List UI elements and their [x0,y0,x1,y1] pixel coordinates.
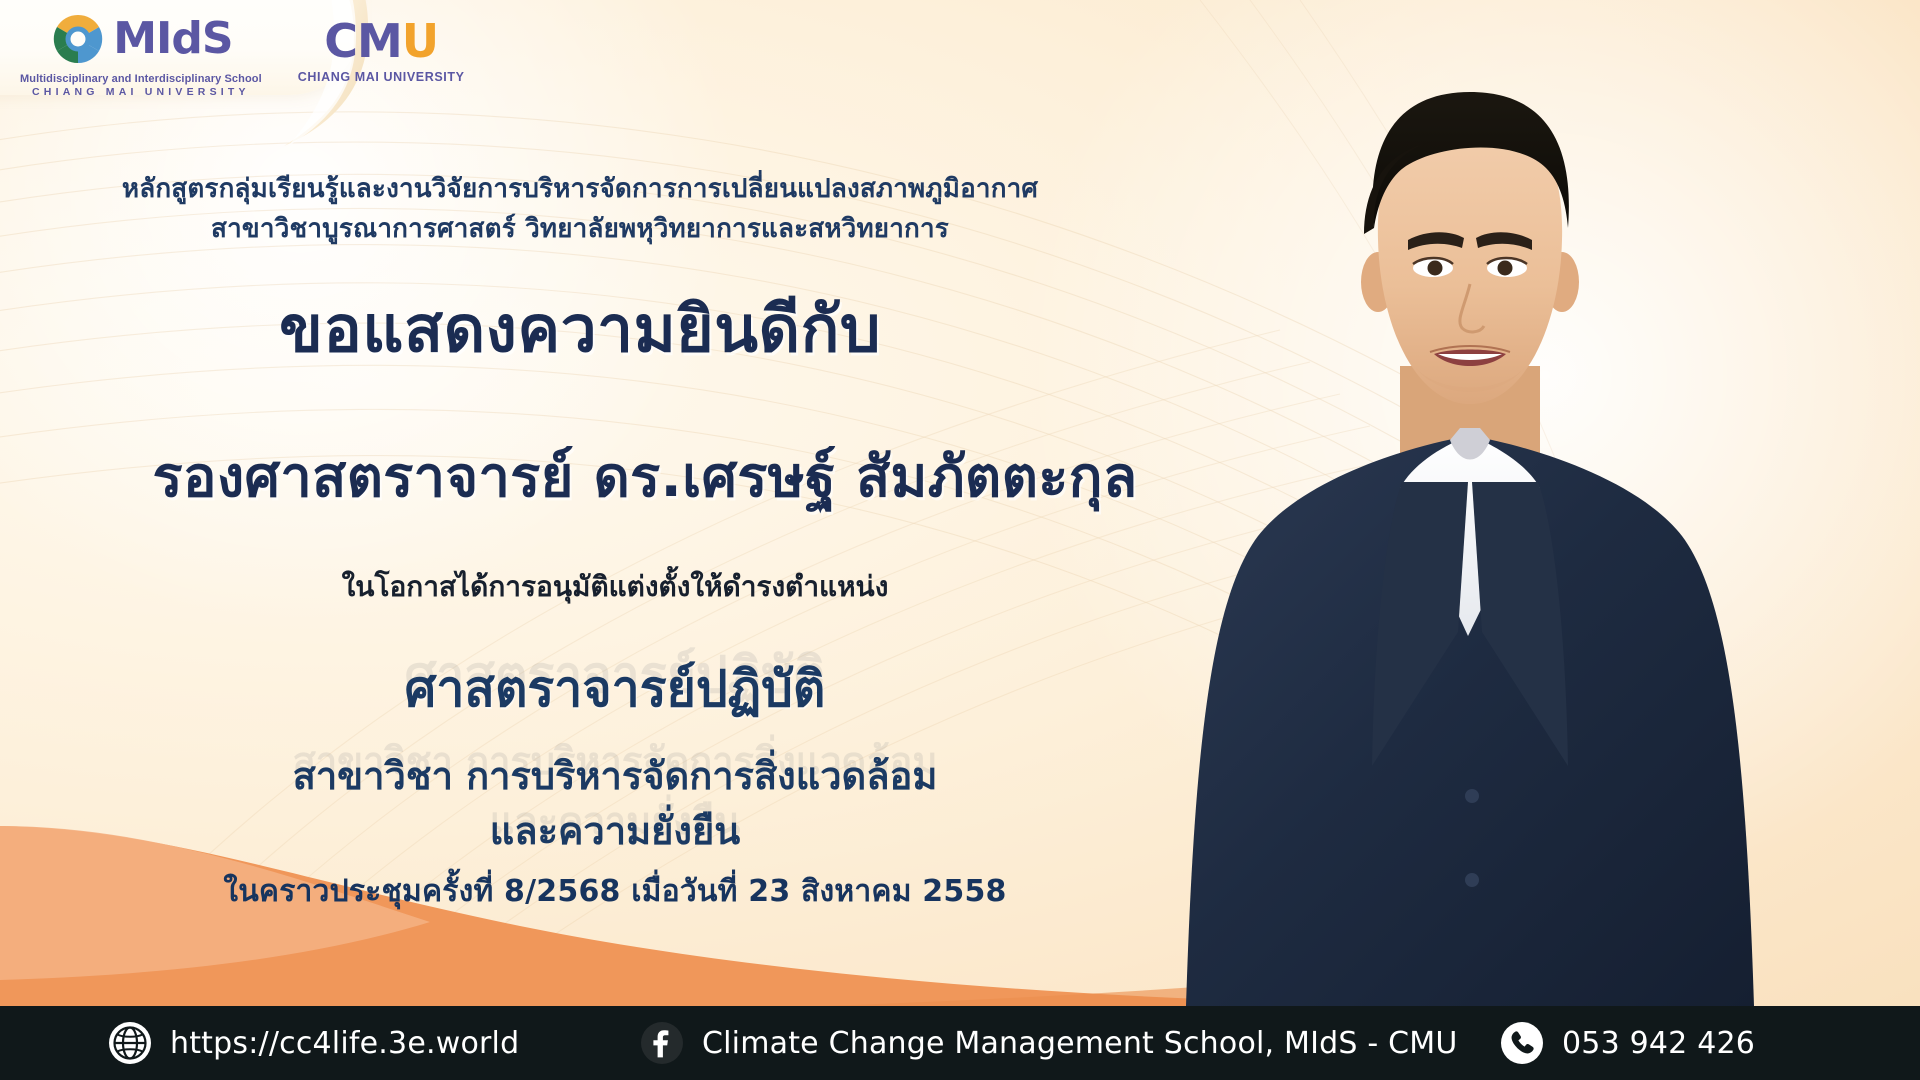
phone-icon [1500,1021,1544,1065]
position-title: ศาสตราจารย์ปฏิบัติ [0,650,1230,729]
footer-bar: https://cc4life.3e.world Climate Change … [0,1006,1920,1080]
program-header-line-2: สาขาวิชาบูรณาการศาสตร์ วิทยาลัยพหุวิทยาก… [0,212,1160,247]
field-line-1: สาขาวิชา การบริหารจัดการสิ่งแวดล้อม [0,745,1230,806]
website-url: https://cc4life.3e.world [170,1026,519,1061]
meeting-note: ในคราวประชุมครั้งที่ 8/2568 เมื่อวันที่ … [0,868,1230,915]
footer-website[interactable]: https://cc4life.3e.world [108,1021,519,1065]
program-header-line-1: หลักสูตรกลุ่มเรียนรู้และงานวิจัยการบริหา… [0,172,1160,207]
poster-text-content: หลักสูตรกลุ่มเรียนรู้และงานวิจัยการบริหา… [0,0,1250,1000]
globe-icon [108,1021,152,1065]
field-line-2: และความยั่งยืน [0,800,1230,861]
congratulations-heading: ขอแสดงความยินดีกับ [0,278,1160,380]
facebook-page-name: Climate Change Management School, MIdS -… [702,1026,1458,1061]
footer-phone[interactable]: 053 942 426 [1500,1021,1755,1065]
congratulations-poster: MIdS Multidisciplinary and Interdiscipli… [0,0,1920,1080]
phone-number: 053 942 426 [1562,1026,1755,1061]
footer-facebook[interactable]: Climate Change Management School, MIdS -… [640,1021,1458,1065]
honoree-name: รองศาสตราจารย์ ดร.เศรษฐ์ สัมภัตตะกุล [0,432,1290,521]
occasion-text: ในโอกาสได้การอนุมัติแต่งตั้งให้ดำรงตำแหน… [0,565,1230,609]
facebook-icon [640,1021,684,1065]
